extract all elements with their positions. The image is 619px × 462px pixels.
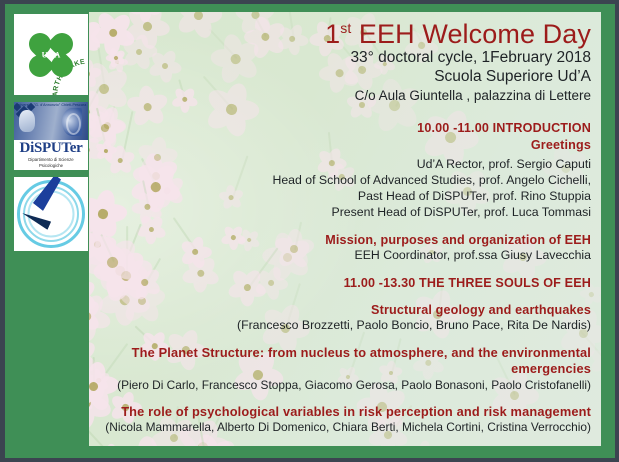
page-title: 1st EEH Welcome Day [89, 20, 591, 48]
poster-green-frame: EARTHQUAKEANDENVIRONMENTALHAZARDS Ud’A U… [5, 4, 615, 458]
title-main: EEH Welcome Day [351, 19, 591, 49]
subtitle-cycle-date: 33° doctoral cycle, 1February 2018 [89, 49, 591, 68]
disputer-name: DiSPUTer [14, 141, 88, 156]
disputer-caption-1: Dipartimento di Scienze Psicologiche [14, 156, 88, 169]
checkmark-icon [22, 195, 80, 229]
intro-speaker-2: Head of School of Advanced Studies, prof… [89, 173, 591, 189]
topic-3-title: The role of psychological variables in r… [89, 404, 591, 420]
disputer-caption-2: Umanistiche e del Territorio [14, 169, 88, 170]
disputer-image: Università "G. d'Annunzio" Chieti-Pescar… [14, 102, 88, 140]
logo-column: EARTHQUAKEANDENVIRONMENTALHAZARDS Ud’A U… [14, 14, 88, 258]
topic-1-title: Structural geology and earthquakes [89, 302, 591, 318]
disputer-bust-icon [19, 110, 35, 132]
intro-speaker-1: Ud’A Rector, prof. Sergio Caputi [89, 157, 591, 173]
topic-2-title: The Planet Structure: from nucleus to at… [89, 345, 591, 378]
eeh-clover-logo: EARTHQUAKEANDENVIRONMENTALHAZARDS Ud’A [14, 14, 88, 95]
section-subheading-greetings: Greetings [89, 137, 591, 153]
section-heading-mission: Mission, purposes and organization of EE… [89, 232, 591, 248]
topic-3-people: (Nicola Mammarella, Alberto Di Domenico,… [89, 420, 591, 435]
checkmark-logo [14, 177, 88, 251]
disputer-logo: Università "G. d'Annunzio" Chieti-Pescar… [14, 102, 88, 170]
poster-text-column: 1st EEH Welcome Day 33° doctoral cycle, … [89, 12, 601, 446]
poster-canvas: 1st EEH Welcome Day 33° doctoral cycle, … [89, 12, 601, 446]
section-heading-introduction: 10.00 -11.00 INTRODUCTION [89, 120, 591, 136]
title-ordinal-suffix: st [340, 20, 351, 36]
disputer-spiral-icon [62, 108, 82, 136]
section-heading-three-souls: 11.00 -13.30 THE THREE SOULS OF EEH [89, 275, 591, 291]
intro-speaker-4: Present Head of DiSPUTer, prof. Luca Tom… [89, 205, 591, 221]
clover-center-label: Ud’A [42, 50, 61, 59]
topic-2-people: (Piero Di Carlo, Francesco Stoppa, Giaco… [89, 378, 591, 393]
subtitle-venue: Scuola Superiore Ud’A [89, 68, 591, 87]
title-prefix: 1 [325, 19, 340, 49]
mission-speaker-1: EEH Coordinator, prof.ssa Giusy Lavecchi… [89, 248, 591, 264]
intro-speaker-3: Past Head of DiSPUTer, prof. Rino Stuppi… [89, 189, 591, 205]
subtitle-room: C/o Aula Giuntella , palazzina di Letter… [89, 88, 591, 105]
poster-root: EARTHQUAKEANDENVIRONMENTALHAZARDS Ud’A U… [0, 0, 619, 462]
topic-1-people: (Francesco Brozzetti, Paolo Boncio, Brun… [89, 318, 591, 334]
